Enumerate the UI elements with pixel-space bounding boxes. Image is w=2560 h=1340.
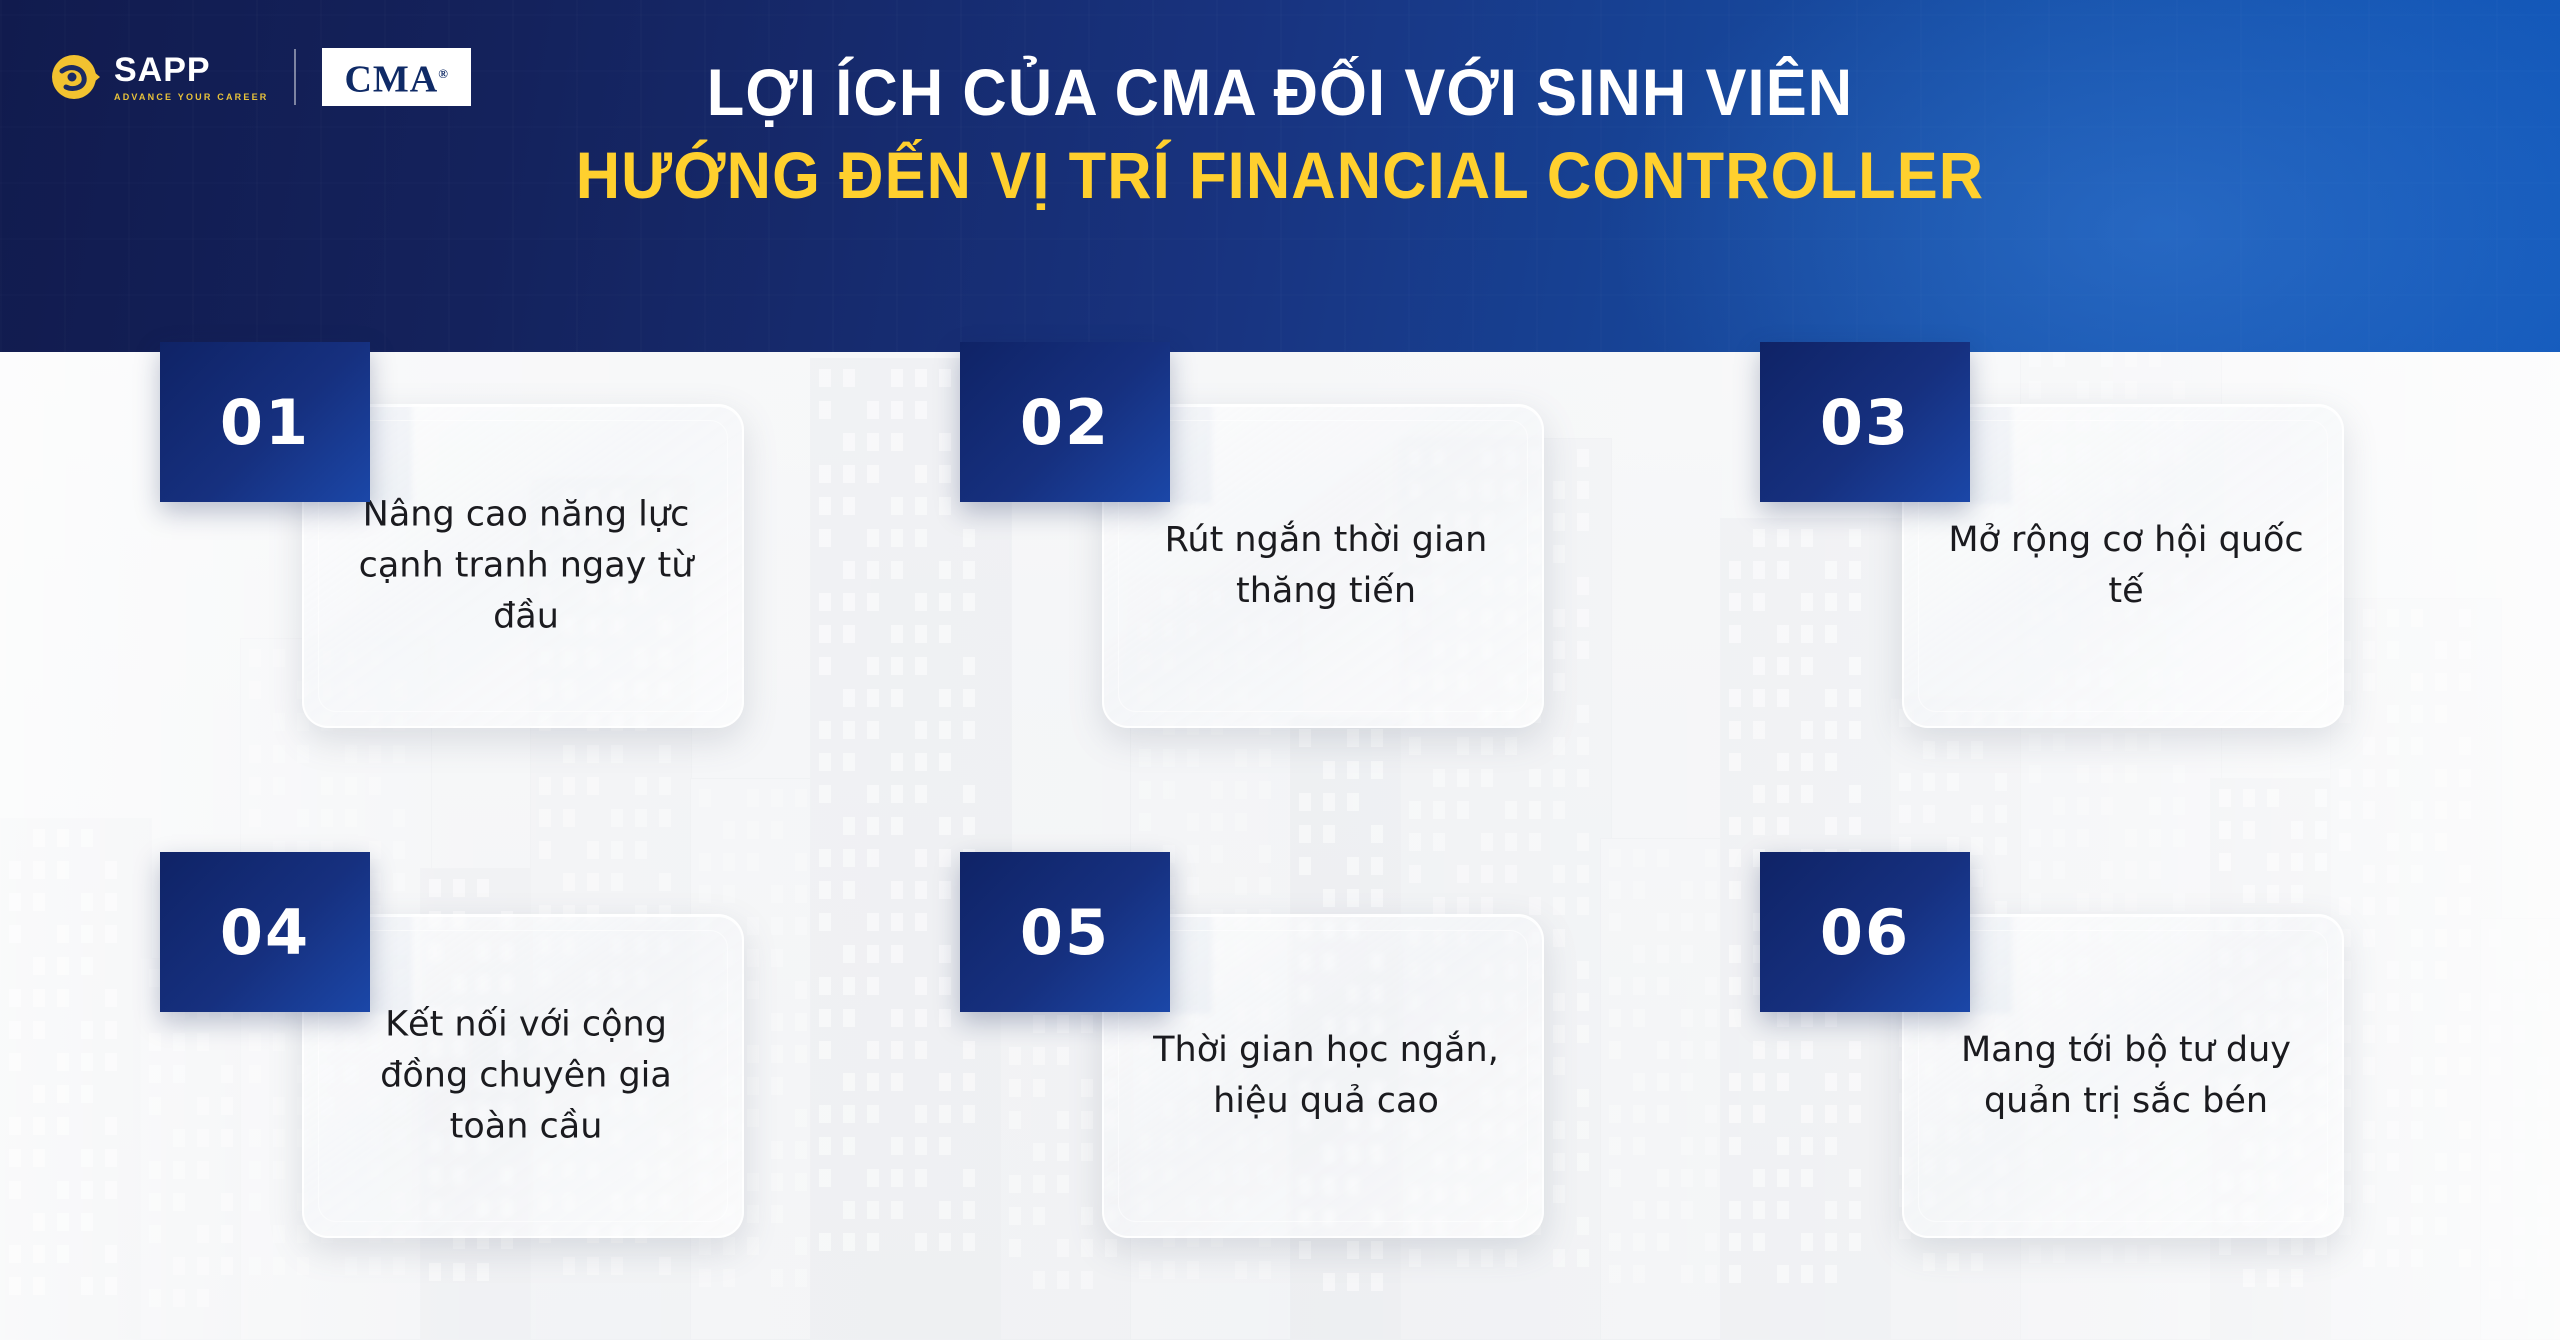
benefit-text: Mở rộng cơ hội quốc tế bbox=[1944, 515, 2308, 617]
header-banner: SAPP ADVANCE YOUR CAREER CMA® LỢI ÍCH CỦ… bbox=[0, 0, 2560, 352]
benefit-number-badge: 06 bbox=[1760, 852, 1970, 1012]
benefit-card-04: Kết nối với cộng đồng chuyên gia toàn cầ… bbox=[160, 852, 760, 1282]
benefit-number: 04 bbox=[160, 852, 370, 1012]
benefit-text: Kết nối với cộng đồng chuyên gia toàn cầ… bbox=[344, 1000, 708, 1153]
benefit-card-06: Mang tới bộ tư duy quản trị sắc bén 06 bbox=[1760, 852, 2360, 1282]
benefit-number: 03 bbox=[1760, 342, 1970, 502]
benefit-text: Thời gian học ngắn, hiệu quả cao bbox=[1144, 1025, 1508, 1127]
page-title-line1: LỢI ÍCH CỦA CMA ĐỐI VỚI SINH VIÊN bbox=[90, 52, 2471, 132]
benefit-number: 06 bbox=[1760, 852, 1970, 1012]
header-titles: LỢI ÍCH CỦA CMA ĐỐI VỚI SINH VIÊN HƯỚNG … bbox=[0, 52, 2560, 218]
benefit-number: 02 bbox=[960, 342, 1170, 502]
benefit-card-02: Rút ngắn thời gian thăng tiến 02 bbox=[960, 342, 1560, 772]
benefits-grid: Nâng cao năng lực cạnh tranh ngay từ đầu… bbox=[0, 352, 2560, 1340]
benefit-text: Rút ngắn thời gian thăng tiến bbox=[1144, 515, 1508, 617]
benefit-number: 01 bbox=[160, 342, 370, 502]
infographic-poster: SAPP ADVANCE YOUR CAREER CMA® LỢI ÍCH CỦ… bbox=[0, 0, 2560, 1340]
benefit-card-03: Mở rộng cơ hội quốc tế 03 bbox=[1760, 342, 2360, 772]
page-title-line2: HƯỚNG ĐẾN VỊ TRÍ FINANCIAL CONTROLLER bbox=[90, 132, 2471, 218]
benefit-number-badge: 03 bbox=[1760, 342, 1970, 502]
benefit-text: Nâng cao năng lực cạnh tranh ngay từ đầu bbox=[344, 490, 708, 643]
benefit-number: 05 bbox=[960, 852, 1170, 1012]
benefit-number-badge: 05 bbox=[960, 852, 1170, 1012]
benefit-number-badge: 04 bbox=[160, 852, 370, 1012]
benefit-card-05: Thời gian học ngắn, hiệu quả cao 05 bbox=[960, 852, 1560, 1282]
benefit-number-badge: 01 bbox=[160, 342, 370, 502]
benefit-number-badge: 02 bbox=[960, 342, 1170, 502]
benefit-card-01: Nâng cao năng lực cạnh tranh ngay từ đầu… bbox=[160, 342, 760, 772]
benefit-text: Mang tới bộ tư duy quản trị sắc bén bbox=[1944, 1025, 2308, 1127]
